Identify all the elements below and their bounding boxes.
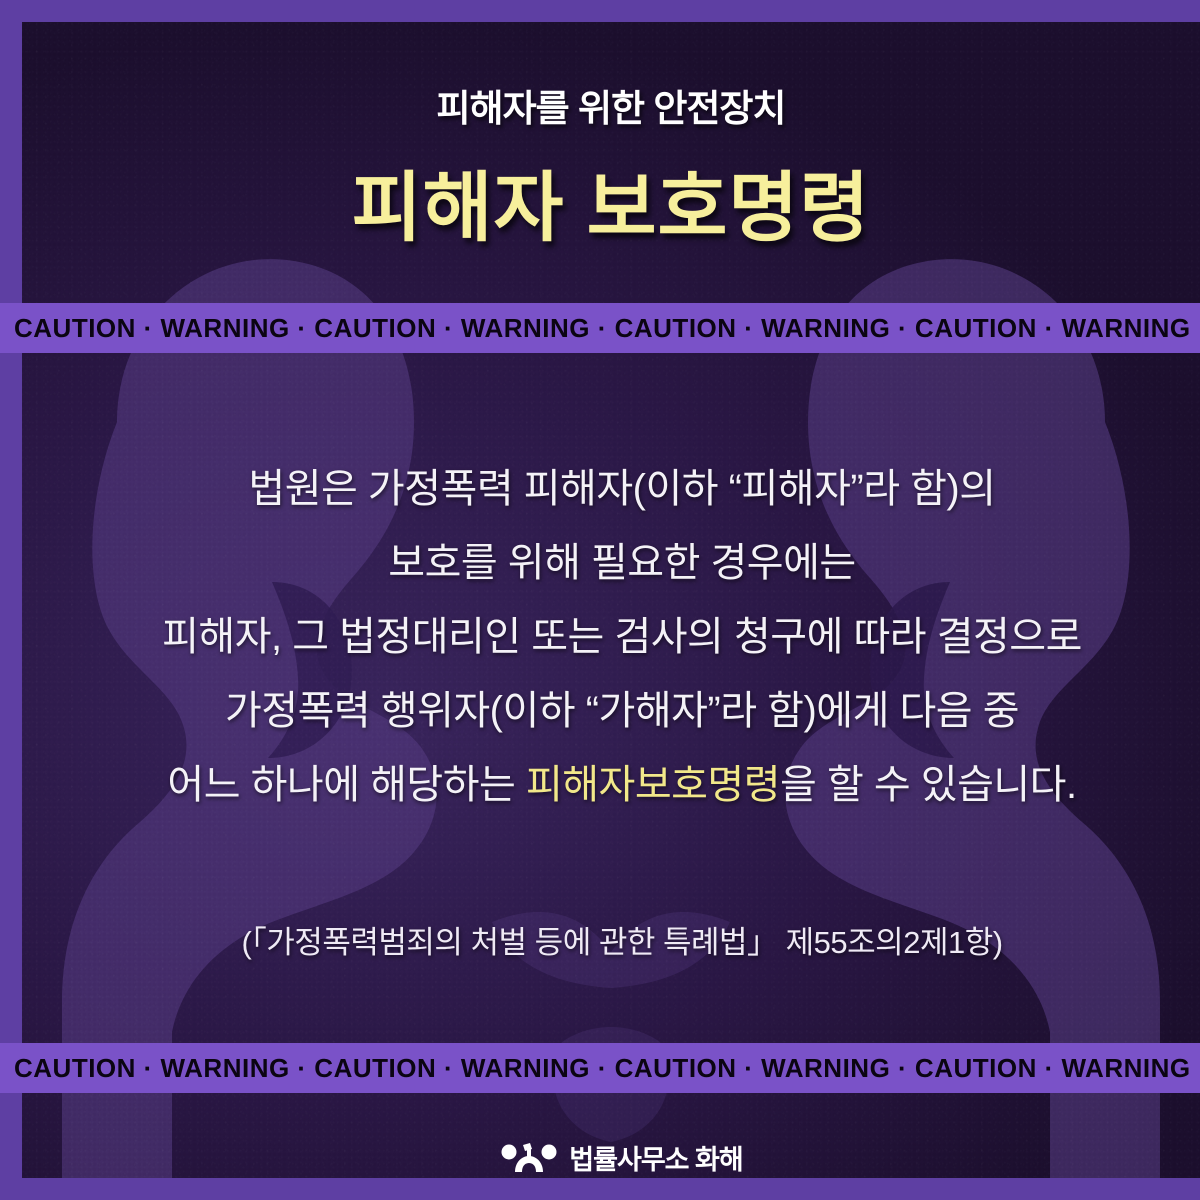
footer-firm-name: 법률사무소 화해	[569, 1138, 742, 1177]
body-line-5: 어느 하나에 해당하는 피해자보호명령을 할 수 있습니다.	[22, 748, 1200, 822]
poster-inner-panel: 피해자를 위한 안전장치 피해자 보호명령 법원은 가정폭력 피해자(이하 “피…	[22, 22, 1200, 1178]
body-line-2: 보호를 위해 필요한 경우에는	[22, 526, 1200, 600]
body-line-1: 법원은 가정폭력 피해자(이하 “피해자”라 함)의	[22, 452, 1200, 526]
caution-banner-top: CAUTION · WARNING · CAUTION · WARNING · …	[0, 303, 1200, 353]
body-line-3: 피해자, 그 법정대리인 또는 검사의 청구에 따라 결정으로	[22, 600, 1200, 674]
body-line-5-suffix: 을 할 수 있습니다.	[780, 763, 1077, 807]
poster-header: 피해자를 위한 안전장치 피해자 보호명령	[22, 22, 1200, 300]
legal-citation: (「가정폭력범죄의 처벌 등에 관한 특례법」 제55조의2제1항)	[22, 917, 1200, 962]
body-text-block: 법원은 가정폭력 피해자(이하 “피해자”라 함)의 보호를 위해 필요한 경우…	[22, 452, 1200, 822]
body-line-5-prefix: 어느 하나에 해당하는	[167, 763, 526, 807]
footer-logo: 법률사무소 화해	[22, 1115, 1200, 1178]
caution-banner-bottom-text: CAUTION · WARNING · CAUTION · WARNING · …	[0, 1053, 1200, 1084]
caution-banner-bottom: CAUTION · WARNING · CAUTION · WARNING · …	[0, 1043, 1200, 1093]
poster-root: 피해자를 위한 안전장치 피해자 보호명령 법원은 가정폭력 피해자(이하 “피…	[0, 0, 1200, 1200]
hwahae-mark-icon	[501, 1143, 557, 1173]
body-line-5-highlight: 피해자보호명령	[526, 763, 780, 807]
poster-subtitle: 피해자를 위한 안전장치	[437, 78, 786, 132]
poster-title: 피해자 보호명령	[352, 146, 871, 256]
body-line-4: 가정폭력 행위자(이하 “가해자”라 함)에게 다음 중	[22, 674, 1200, 748]
caution-banner-top-text: CAUTION · WARNING · CAUTION · WARNING · …	[0, 313, 1200, 344]
